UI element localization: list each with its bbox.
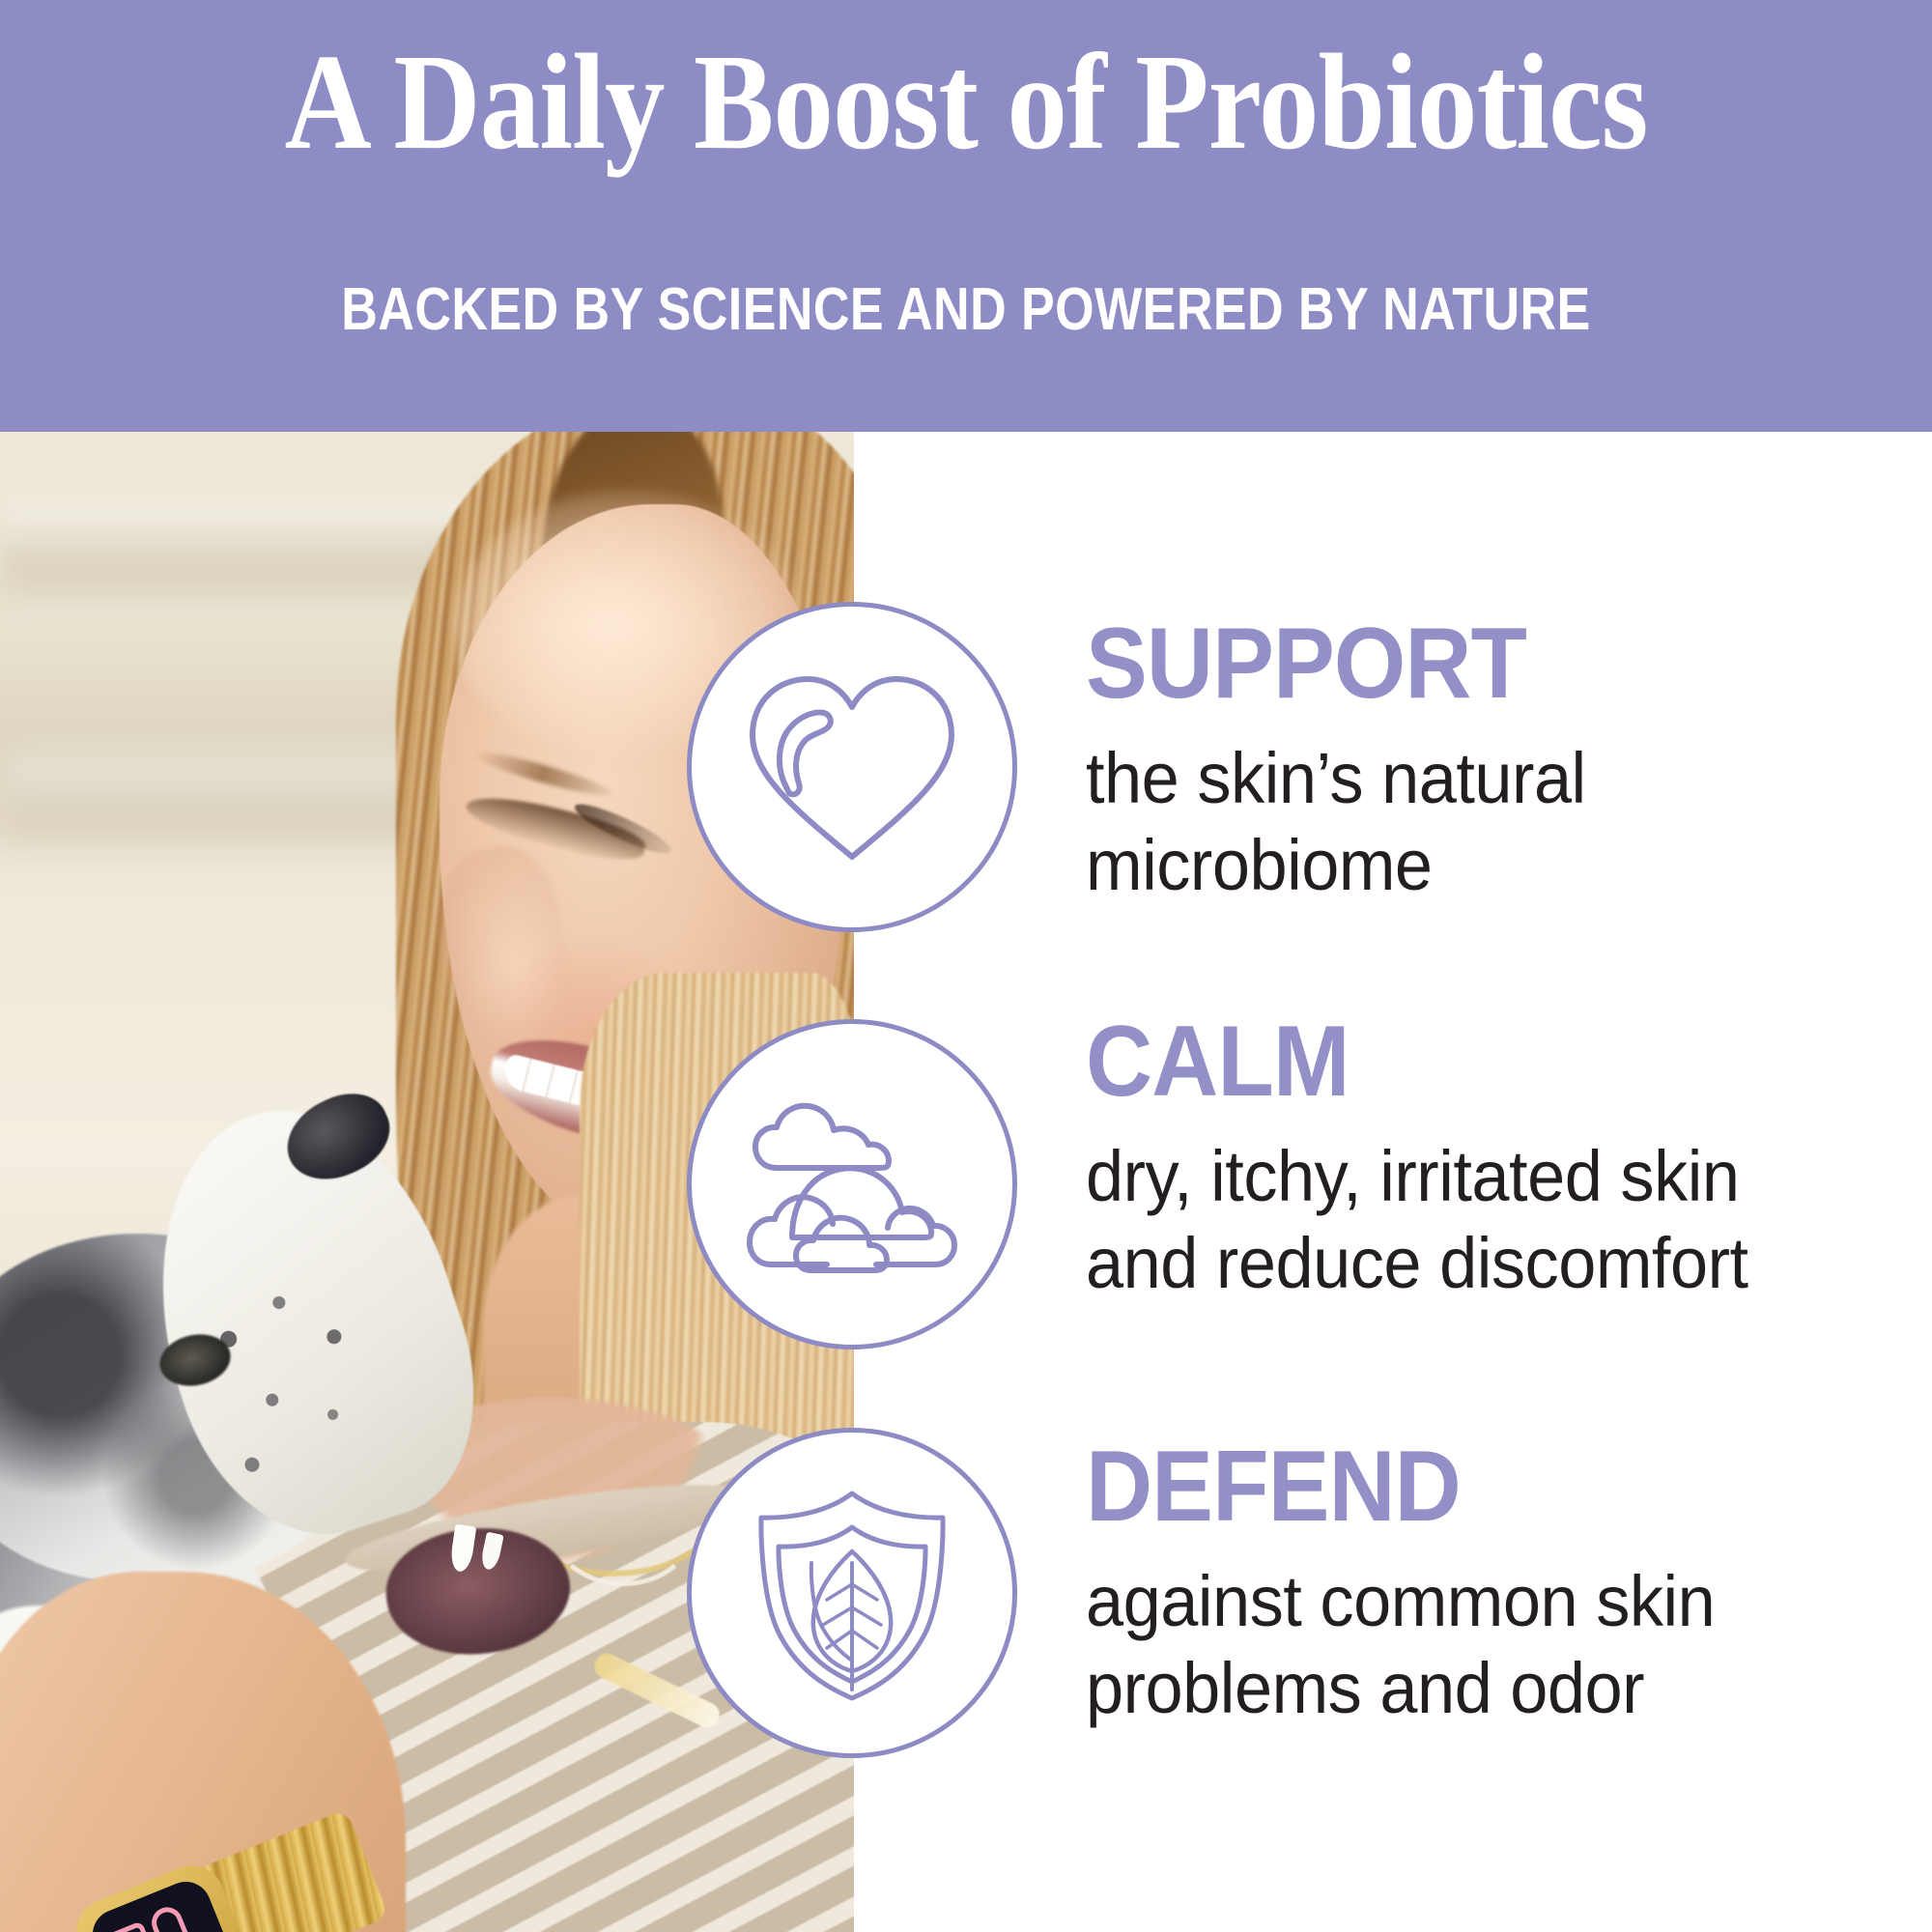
page-subtitle: BACKED BY SCIENCE AND POWERED BY NATURE: [155, 280, 1777, 340]
header-banner: A Daily Boost of Probiotics BACKED BY SC…: [0, 0, 1932, 432]
benefit-body-line: microbiome: [1086, 822, 1838, 909]
benefit-body-defend: against common skin problems and odor: [1086, 1558, 1838, 1733]
benefit-heading-calm: CALM: [1086, 1011, 1814, 1112]
benefit-body-support: the skin’s natural microbiome: [1086, 735, 1838, 910]
benefit-body-line: problems and odor: [1086, 1645, 1838, 1732]
clouds-icon-badge: [687, 1019, 1017, 1350]
benefit-body-line: the skin’s natural: [1086, 735, 1838, 822]
benefit-body-calm: dry, itchy, irritated skin and reduce di…: [1086, 1133, 1838, 1308]
benefit-heading-support: SUPPORT: [1086, 613, 1814, 714]
clouds-icon: [742, 1093, 962, 1276]
benefit-text-calm: CALM dry, itchy, irritated skin and redu…: [1086, 1011, 1878, 1308]
benefit-body-line: against common skin: [1086, 1558, 1838, 1645]
benefits-list: SUPPORT the skin’s natural microbiome: [0, 432, 1932, 1932]
shield-leaf-icon: [746, 1482, 958, 1704]
benefit-body-line: and reduce discomfort: [1086, 1220, 1838, 1307]
heart-icon: [741, 668, 963, 867]
benefit-text-defend: DEFEND against common skin problems and …: [1086, 1436, 1878, 1733]
benefit-body-line: dry, itchy, irritated skin: [1086, 1133, 1838, 1220]
benefit-text-support: SUPPORT the skin’s natural microbiome: [1086, 613, 1878, 910]
shield-leaf-icon-badge: [687, 1428, 1017, 1758]
benefit-heading-defend: DEFEND: [1086, 1436, 1814, 1537]
heart-icon-badge: [687, 602, 1017, 932]
page-title: A Daily Boost of Probiotics: [116, 33, 1816, 170]
